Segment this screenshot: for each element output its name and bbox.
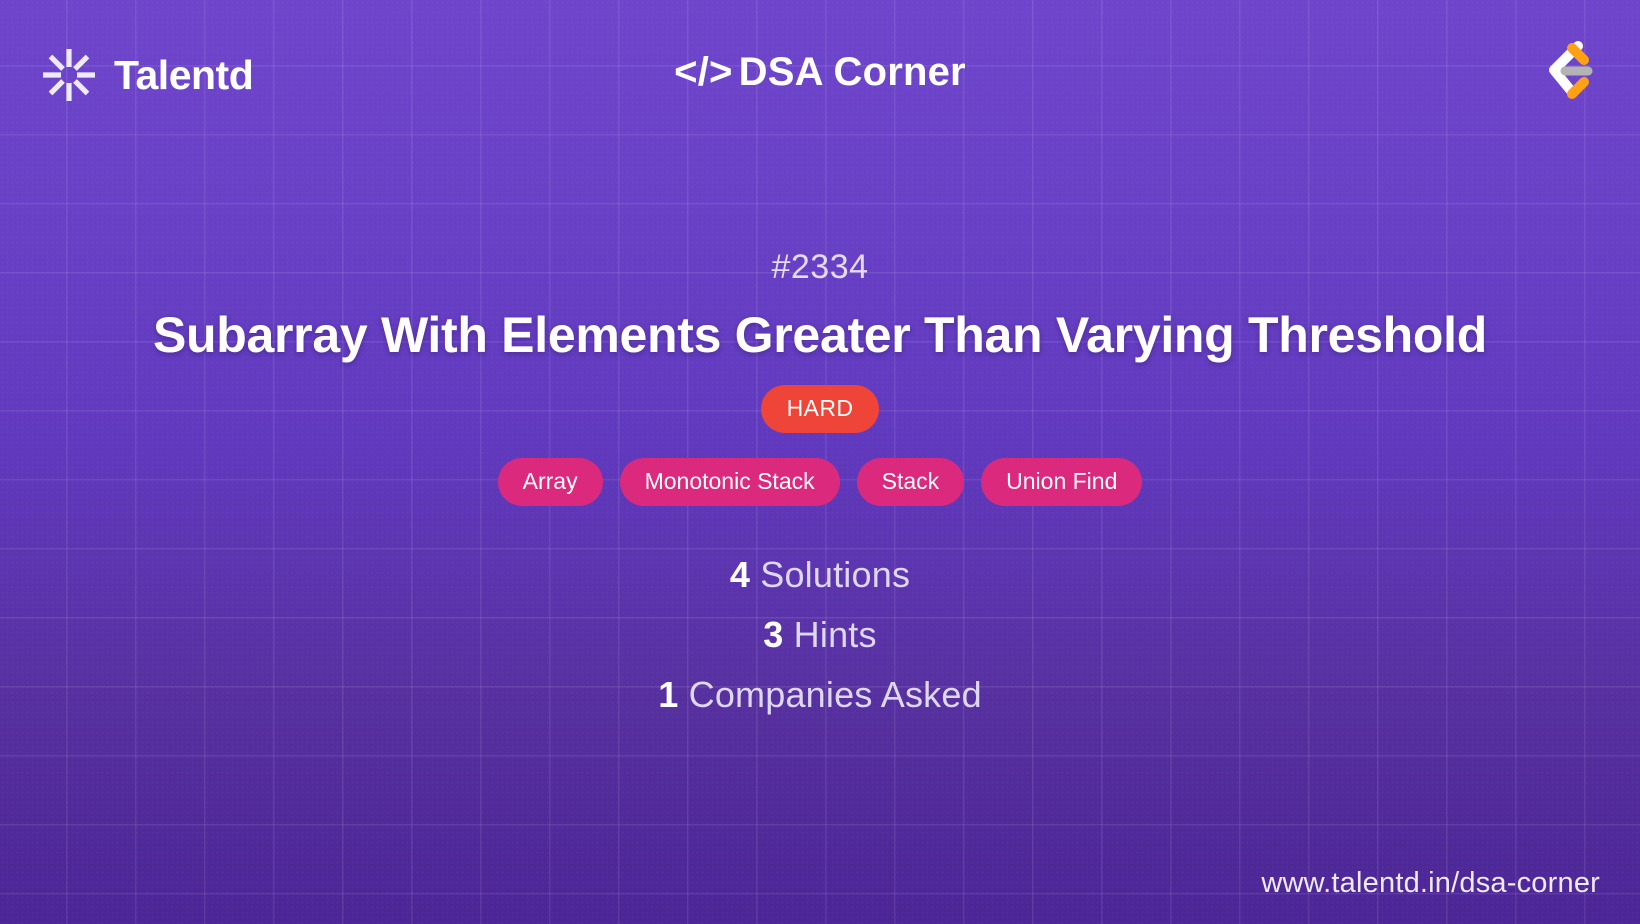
problem-title: Subarray With Elements Greater Than Vary…: [73, 308, 1567, 363]
tag-list: Array Monotonic Stack Stack Union Find: [498, 458, 1143, 506]
stat-value: 3: [763, 614, 783, 655]
page-title: </>DSA Corner: [0, 50, 1640, 95]
stat-label: Solutions: [750, 554, 910, 595]
code-brackets-icon: </>: [674, 50, 732, 94]
stat-value: 1: [658, 674, 678, 715]
page-title-text: DSA Corner: [739, 50, 966, 94]
header-bar: Talentd </>DSA Corner: [0, 0, 1640, 150]
difficulty-row: HARD: [761, 385, 880, 433]
leetcode-logo-icon: [1532, 36, 1598, 106]
stat-companies-asked: 1 Companies Asked: [658, 676, 982, 714]
dsa-corner-card: Talentd </>DSA Corner #2334 Subarray Wit…: [0, 0, 1640, 924]
main-content: #2334 Subarray With Elements Greater Tha…: [0, 150, 1640, 924]
stat-label: Companies Asked: [678, 674, 981, 715]
stat-hints: 3 Hints: [763, 616, 876, 654]
tag-pill: Array: [498, 458, 603, 506]
footer-url: www.talentd.in/dsa-corner: [1261, 867, 1600, 900]
stat-value: 4: [730, 554, 750, 595]
problem-number: #2334: [771, 250, 868, 284]
tag-pill: Union Find: [981, 458, 1142, 506]
difficulty-badge: HARD: [761, 385, 880, 433]
tag-pill: Monotonic Stack: [620, 458, 840, 506]
stat-solutions: 4 Solutions: [730, 556, 910, 594]
stat-label: Hints: [783, 614, 876, 655]
stats-list: 4 Solutions 3 Hints 1 Companies Asked: [658, 556, 982, 713]
tag-pill: Stack: [857, 458, 965, 506]
